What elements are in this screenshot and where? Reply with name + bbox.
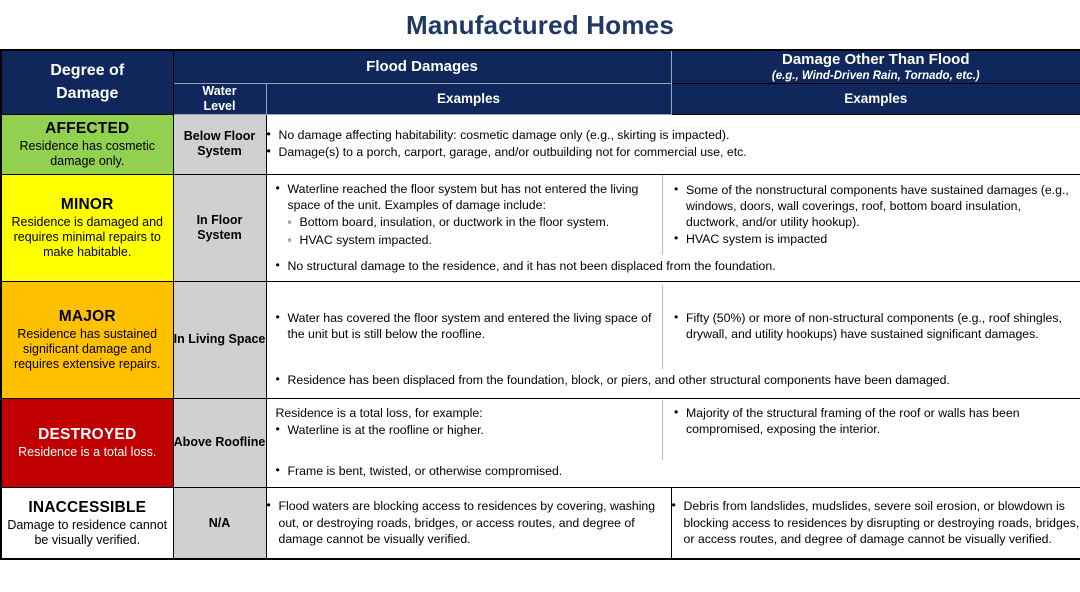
list-item: Flood waters are blocking access to resi… [267,498,671,547]
page-title: Manufactured Homes [0,0,1080,49]
severity-name: MAJOR [2,308,173,326]
water-level-label: In Floor System [197,213,243,242]
header-examples-other: Examples [671,83,1080,114]
header-degree-of-damage: Degree of Damage [1,50,173,115]
severity-name: AFFECTED [2,120,173,138]
examples-affected-fullwidth: No damage affecting habitability: cosmet… [266,114,1080,174]
examples-minor: Waterline reached the floor system but h… [266,174,1080,281]
examples-minor-footer: No structural damage to the residence, a… [267,255,1080,281]
examples-inaccessible-other: Debris from landslides, mudslides, sever… [671,487,1080,559]
header-examples-flood: Examples [266,83,671,114]
severity-description: Residence has cosmetic damage only. [2,139,173,169]
severity-cell-minor: MINOR Residence is damaged and requires … [1,174,173,281]
header-water-line1: Water [174,84,266,99]
examples-major-other: Fifty (50%) or more of non-structural co… [663,285,1080,369]
list-item: Residence has been displaced from the fo… [276,373,1073,389]
header-water-line2: Level [174,99,266,114]
table-row-inaccessible: INACCESSIBLE Damage to residence cannot … [1,487,1080,559]
severity-name: INACCESSIBLE [2,499,173,517]
list-item: Some of the nonstructural components hav… [674,182,1071,231]
damage-assessment-matrix-page: Manufactured Homes Degree of Damage Floo… [0,0,1080,592]
water-level-destroyed: Above Roofline [173,398,266,487]
water-level-label: In Living Space [174,332,266,346]
list-item: No damage affecting habitability: cosmet… [267,127,1080,143]
header-water-level: Water Level [173,83,266,114]
list-item: Fifty (50%) or more of non-structural co… [674,310,1071,342]
header-degree-line1: Degree of [2,59,173,82]
examples-minor-other: Some of the nonstructural components hav… [663,175,1080,255]
water-level-inaccessible: N/A [173,487,266,559]
water-level-major: In Living Space [173,281,266,398]
examples-minor-flood: Waterline reached the floor system but h… [267,175,663,255]
header-damage-other-than-flood: Damage Other Than Flood (e.g., Wind-Driv… [671,50,1080,84]
water-level-minor: In Floor System [173,174,266,281]
list-item: Debris from landslides, mudslides, sever… [672,498,1080,547]
damage-matrix-table: Degree of Damage Flood Damages Damage Ot… [0,49,1080,561]
severity-name: DESTROYED [2,426,173,444]
severity-cell-destroyed: DESTROYED Residence is a total loss. [1,398,173,487]
severity-description: Residence has sustained significant dama… [2,327,173,371]
severity-description: Residence is damaged and requires minima… [2,215,173,259]
table-row-affected: AFFECTED Residence has cosmetic damage o… [1,114,1080,174]
header-other-note: (e.g., Wind-Driven Rain, Tornado, etc.) [672,69,1080,83]
severity-description: Residence is a total loss. [2,445,173,460]
examples-inaccessible-flood: Flood waters are blocking access to resi… [266,487,671,559]
examples-destroyed: Residence is a total loss, for example: … [266,398,1080,487]
list-item: Majority of the structural framing of th… [674,405,1071,437]
examples-destroyed-other: Majority of the structural framing of th… [663,400,1080,460]
severity-cell-major: MAJOR Residence has sustained significan… [1,281,173,398]
header-flood-damages: Flood Damages [173,50,671,84]
severity-description: Damage to residence cannot be visually v… [2,518,173,548]
examples-destroyed-flood: Residence is a total loss, for example: … [267,400,663,460]
header-other-title: Damage Other Than Flood [672,51,1080,68]
severity-cell-inaccessible: INACCESSIBLE Damage to residence cannot … [1,487,173,559]
header-row-top: Degree of Damage Flood Damages Damage Ot… [1,50,1080,84]
water-level-affected: Below Floor System [173,114,266,174]
list-lead: Residence is a total loss, for example: [276,405,653,421]
table-row-minor: MINOR Residence is damaged and requires … [1,174,1080,281]
list-item-sub: HVAC system impacted. [276,232,653,248]
list-item: Waterline is at the roofline or higher. [276,422,653,438]
table-row-destroyed: DESTROYED Residence is a total loss. Abo… [1,398,1080,487]
table-row-major: MAJOR Residence has sustained significan… [1,281,1080,398]
list-item: HVAC system is impacted [674,231,1071,247]
examples-major-flood: Water has covered the floor system and e… [267,285,663,369]
list-item: Water has covered the floor system and e… [276,310,653,342]
list-item: Frame is bent, twisted, or otherwise com… [276,464,1073,480]
list-item: Waterline reached the floor system but h… [276,181,653,213]
list-item-sub: Bottom board, insulation, or ductwork in… [276,214,653,230]
examples-destroyed-footer: Frame is bent, twisted, or otherwise com… [267,460,1080,486]
header-degree-line2: Damage [2,82,173,105]
list-item: No structural damage to the residence, a… [276,259,1073,275]
examples-major-footer: Residence has been displaced from the fo… [267,369,1080,395]
examples-major: Water has covered the floor system and e… [266,281,1080,398]
severity-name: MINOR [2,196,173,214]
list-item: Damage(s) to a porch, carport, garage, a… [267,144,1080,160]
water-level-label: Above Roofline [174,435,266,449]
severity-cell-affected: AFFECTED Residence has cosmetic damage o… [1,114,173,174]
